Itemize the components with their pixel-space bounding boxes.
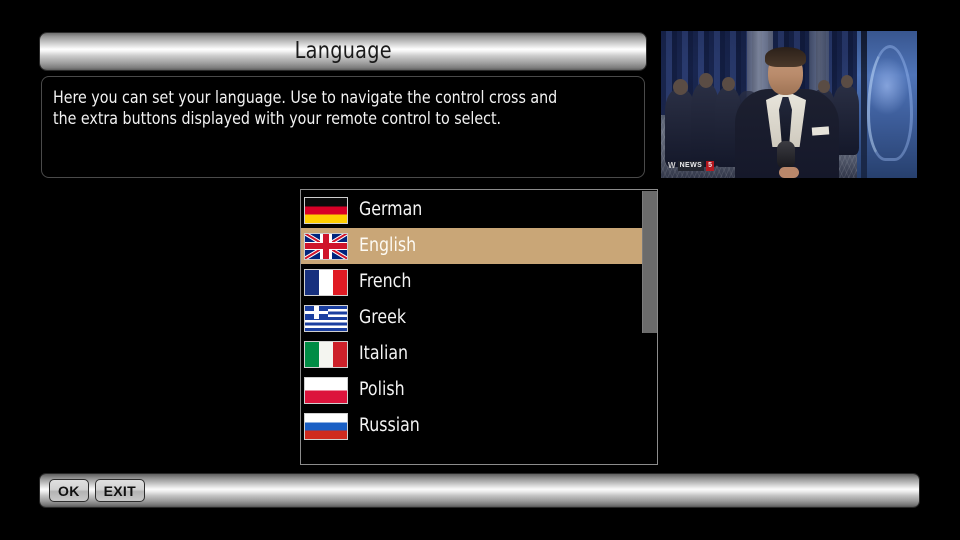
help-text-box: Here you can set your language. Use to n… [41, 76, 645, 178]
language-option-polish[interactable]: Polish [301, 372, 643, 408]
language-option-label: Greek [359, 309, 406, 328]
language-option-italian[interactable]: Italian [301, 336, 643, 372]
preview-reporter-hand [779, 167, 799, 178]
preview-microphone [777, 141, 795, 169]
flag-poland-icon [304, 377, 348, 404]
page-title-bar: Language [40, 33, 646, 70]
language-option-label: Italian [359, 345, 408, 364]
page-title: Language [294, 40, 391, 63]
preview-reporter-hair [765, 47, 806, 67]
tv-osd-screen: Language Here you can set your language.… [0, 0, 960, 540]
preview-crowd-head [818, 80, 830, 93]
flag-greece-icon [304, 305, 348, 332]
language-option-label: French [359, 273, 411, 292]
flag-france-icon [304, 269, 348, 296]
ok-button[interactable]: OK [49, 479, 89, 502]
language-option-german[interactable]: German [301, 192, 643, 228]
language-list-panel[interactable]: German English French [300, 189, 658, 465]
help-text: Here you can set your language. Use to n… [53, 87, 610, 129]
language-option-label: Polish [359, 381, 405, 400]
language-list: German English French [301, 192, 643, 444]
bottom-action-bar: OK EXIT [40, 474, 919, 507]
flag-russia-icon [304, 413, 348, 440]
preview-crowd-head [841, 75, 853, 88]
flag-germany-icon [304, 197, 348, 224]
exit-button[interactable]: EXIT [95, 479, 145, 502]
news-logo-badge: 5 [706, 161, 714, 171]
language-list-scrollbar[interactable] [642, 191, 656, 465]
news-logo-mark: W [668, 162, 676, 170]
language-option-label: German [359, 201, 422, 220]
language-option-label: English [359, 237, 416, 256]
language-option-russian[interactable]: Russian [301, 408, 643, 444]
preview-reporter-pocket-square [812, 126, 830, 135]
language-option-label: Russian [359, 417, 420, 436]
preview-crowd-head [722, 77, 735, 91]
preview-sculpture [857, 31, 917, 178]
language-list-scrollbar-thumb[interactable] [642, 191, 657, 333]
news-logo-word: NEWS [678, 161, 705, 171]
language-option-greek[interactable]: Greek [301, 300, 643, 336]
flag-united-kingdom-icon [304, 233, 348, 260]
language-option-french[interactable]: French [301, 264, 643, 300]
flag-italy-icon [304, 341, 348, 368]
language-option-english[interactable]: English [301, 228, 643, 264]
live-tv-preview[interactable]: W NEWS 5 [661, 31, 917, 178]
preview-crowd-head [699, 73, 713, 88]
news-channel-logo: W NEWS 5 [668, 161, 714, 171]
preview-crowd-head [673, 79, 688, 95]
